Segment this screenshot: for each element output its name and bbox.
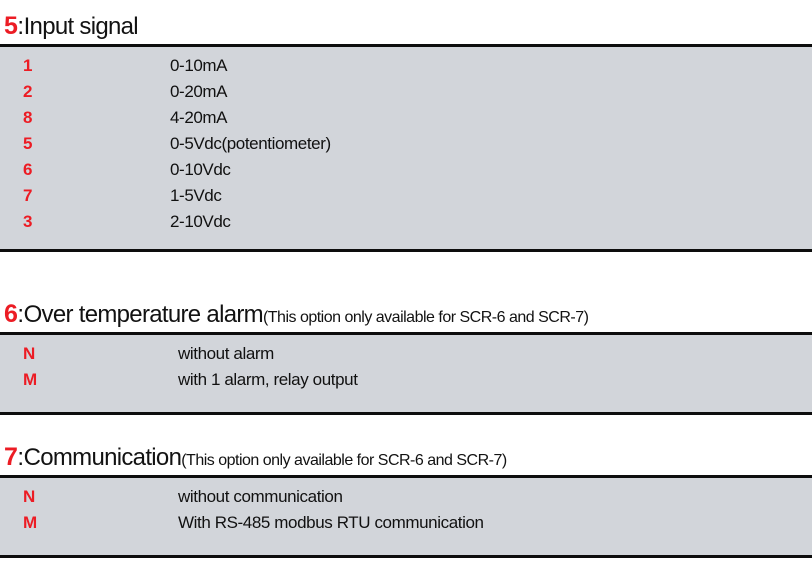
section-number: 6 [4,300,17,328]
options-table: N without communication M With RS-485 mo… [0,478,812,555]
options-table: 1 0-10mA 2 0-20mA 8 4-20mA 5 0-5Vdc(pote… [0,47,812,249]
option-value: with 1 alarm, relay output [178,370,358,390]
table-row: 6 0-10Vdc [0,160,812,186]
option-code: M [0,513,178,533]
section-heading: 5:Input signal [0,12,812,44]
option-value: 0-10Vdc [170,160,231,180]
table-row: 2 0-20mA [0,82,812,108]
option-code: 5 [0,134,170,154]
option-value: 0-5Vdc(potentiometer) [170,134,331,154]
option-value: With RS-485 modbus RTU communication [178,513,484,533]
section-heading: 6:Over temperature alarm(This option onl… [0,300,812,332]
table-row: 8 4-20mA [0,108,812,134]
section-input-signal: 5:Input signal 1 0-10mA 2 0-20mA 8 4-20m… [0,12,812,252]
option-value: 2-10Vdc [170,212,231,232]
option-value: without alarm [178,344,274,364]
option-value: 0-10mA [170,56,227,76]
option-code: 3 [0,212,170,232]
table-row: 7 1-5Vdc [0,186,812,212]
table-row: 3 2-10Vdc [0,212,812,238]
section-title: Communication [24,444,182,471]
rule-bottom [0,555,812,558]
table-row: N without communication [0,487,812,513]
table-row: M With RS-485 modbus RTU communication [0,513,812,539]
table-row: N without alarm [0,344,812,370]
option-value: 0-20mA [170,82,227,102]
option-code: N [0,487,178,507]
table-row: M with 1 alarm, relay output [0,370,812,396]
rule-bottom [0,412,812,415]
option-code: 6 [0,160,170,180]
spec-sheet: 5:Input signal 1 0-10mA 2 0-20mA 8 4-20m… [0,0,812,565]
section-over-temperature-alarm: 6:Over temperature alarm(This option onl… [0,300,812,415]
option-code: M [0,370,178,390]
section-note: (This option only available for SCR-6 an… [181,452,506,469]
section-number: 7 [4,443,17,471]
section-note: (This option only available for SCR-6 an… [263,309,588,326]
section-title: Over temperature alarm [24,301,263,328]
table-row: 1 0-10mA [0,56,812,82]
rule-bottom [0,249,812,252]
table-row: 5 0-5Vdc(potentiometer) [0,134,812,160]
section-communication: 7:Communication(This option only availab… [0,443,812,558]
section-title: Input signal [24,13,138,40]
option-value: 1-5Vdc [170,186,221,206]
option-code: 8 [0,108,170,128]
option-code: 7 [0,186,170,206]
option-value: 4-20mA [170,108,227,128]
option-code: N [0,344,178,364]
option-code: 1 [0,56,170,76]
options-table: N without alarm M with 1 alarm, relay ou… [0,335,812,412]
option-code: 2 [0,82,170,102]
section-heading: 7:Communication(This option only availab… [0,443,812,475]
section-number: 5 [4,12,17,40]
option-value: without communication [178,487,343,507]
